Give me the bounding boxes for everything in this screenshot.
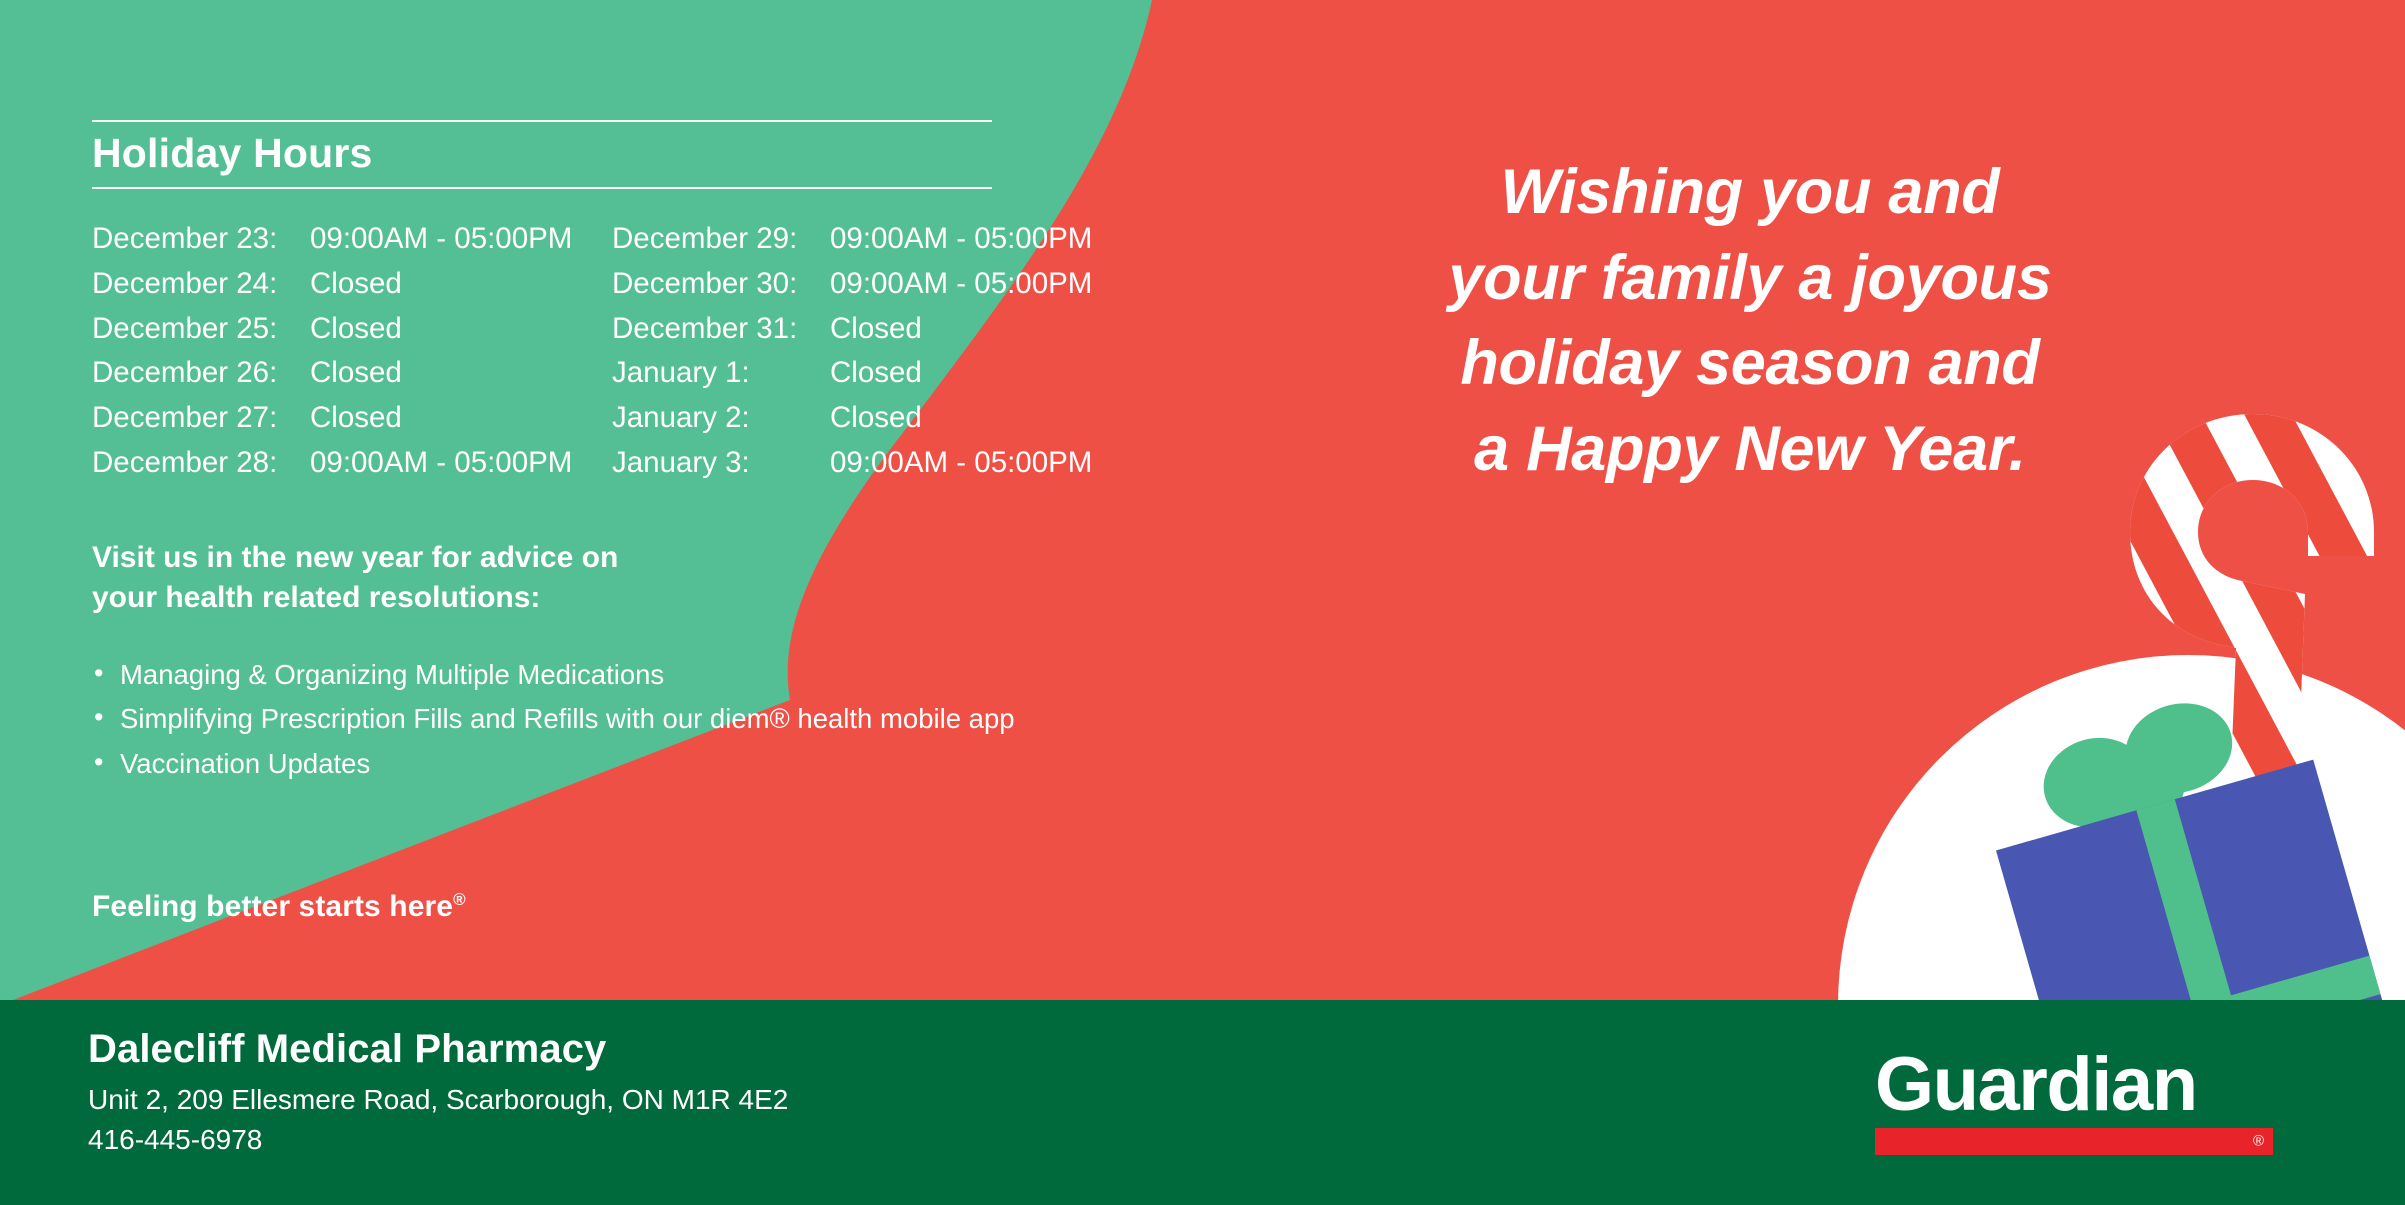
hours-time: Closed bbox=[830, 396, 922, 441]
pharmacy-address: Unit 2, 209 Ellesmere Road, Scarborough,… bbox=[88, 1080, 788, 1120]
hours-time: 09:00AM - 05:00PM bbox=[310, 441, 572, 486]
hours-date: December 29: bbox=[612, 217, 830, 262]
pharmacy-info: Dalecliff Medical Pharmacy Unit 2, 209 E… bbox=[88, 1028, 788, 1160]
hours-date: December 27: bbox=[92, 396, 310, 441]
hours-date: December 26: bbox=[92, 351, 310, 396]
pharmacy-phone: 416-445-6978 bbox=[88, 1120, 788, 1160]
hours-row: December 26: Closed bbox=[92, 351, 612, 396]
visit-heading: Visit us in the new year for advice on y… bbox=[92, 538, 812, 619]
holiday-hours-panel: Holiday Hours December 23: 09:00AM - 05:… bbox=[92, 120, 1152, 787]
hours-date: December 30: bbox=[612, 262, 830, 307]
hours-date: December 24: bbox=[92, 262, 310, 307]
hours-date: December 31: bbox=[612, 307, 830, 352]
guardian-logo: Guardian ® bbox=[1875, 1050, 2273, 1155]
hours-row: January 3: 09:00AM - 05:00PM bbox=[612, 441, 1132, 486]
tagline-text: Feeling better starts here bbox=[92, 890, 453, 923]
guardian-wordmark: Guardian bbox=[1875, 1050, 2273, 1120]
hours-row: December 27: Closed bbox=[92, 396, 612, 441]
hours-date: December 28: bbox=[92, 441, 310, 486]
divider-bottom bbox=[92, 187, 992, 189]
hours-time: 09:00AM - 05:00PM bbox=[310, 217, 572, 262]
registered-mark: ® bbox=[2253, 1134, 2264, 1149]
headline-line-2: your family a joyous bbox=[1355, 236, 2145, 322]
hours-time: 09:00AM - 05:00PM bbox=[830, 262, 1092, 307]
hours-row: December 24: Closed bbox=[92, 262, 612, 307]
hours-date: December 23: bbox=[92, 217, 310, 262]
hours-row: December 31: Closed bbox=[612, 307, 1132, 352]
hours-time: Closed bbox=[310, 307, 402, 352]
registered-mark: ® bbox=[453, 890, 466, 909]
brand-tagline: Feeling better starts here® bbox=[92, 890, 466, 924]
pharmacy-name: Dalecliff Medical Pharmacy bbox=[88, 1028, 788, 1070]
hours-grid: December 23: 09:00AM - 05:00PM December … bbox=[92, 217, 1152, 486]
list-item: Simplifying Prescription Fills and Refil… bbox=[92, 697, 1152, 742]
headline-line-4: a Happy New Year. bbox=[1355, 407, 2145, 493]
headline-line-1: Wishing you and bbox=[1355, 150, 2145, 236]
services-list: Managing & Organizing Multiple Medicatio… bbox=[92, 653, 1152, 787]
hours-row: January 1: Closed bbox=[612, 351, 1132, 396]
hours-time: Closed bbox=[830, 307, 922, 352]
visit-heading-line-2: your health related resolutions: bbox=[92, 578, 812, 619]
hours-column-right: December 29: 09:00AM - 05:00PM December … bbox=[612, 217, 1132, 486]
hours-row: December 30: 09:00AM - 05:00PM bbox=[612, 262, 1132, 307]
holiday-banner: Wishing you and your family a joyous hol… bbox=[0, 0, 2405, 1205]
list-item: Vaccination Updates bbox=[92, 742, 1152, 787]
hours-time: Closed bbox=[310, 396, 402, 441]
footer-bar: Dalecliff Medical Pharmacy Unit 2, 209 E… bbox=[0, 1000, 2405, 1205]
hours-row: December 29: 09:00AM - 05:00PM bbox=[612, 217, 1132, 262]
divider-top bbox=[92, 120, 992, 122]
hours-date: January 3: bbox=[612, 441, 830, 486]
hours-row: December 28: 09:00AM - 05:00PM bbox=[92, 441, 612, 486]
hours-time: Closed bbox=[310, 262, 402, 307]
headline-line-3: holiday season and bbox=[1355, 321, 2145, 407]
hours-time: Closed bbox=[830, 351, 922, 396]
hours-time: 09:00AM - 05:00PM bbox=[830, 441, 1092, 486]
headline: Wishing you and your family a joyous hol… bbox=[1355, 150, 2145, 493]
visit-heading-line-1: Visit us in the new year for advice on bbox=[92, 538, 812, 579]
hours-date: December 25: bbox=[92, 307, 310, 352]
hours-row: January 2: Closed bbox=[612, 396, 1132, 441]
hours-row: December 23: 09:00AM - 05:00PM bbox=[92, 217, 612, 262]
list-item: Managing & Organizing Multiple Medicatio… bbox=[92, 653, 1152, 698]
hours-date: January 2: bbox=[612, 396, 830, 441]
hours-time: 09:00AM - 05:00PM bbox=[830, 217, 1092, 262]
guardian-logo-bar: ® bbox=[1875, 1128, 2273, 1155]
hours-row: December 25: Closed bbox=[92, 307, 612, 352]
hours-date: January 1: bbox=[612, 351, 830, 396]
page-title: Holiday Hours bbox=[92, 122, 1152, 187]
hours-time: Closed bbox=[310, 351, 402, 396]
hours-column-left: December 23: 09:00AM - 05:00PM December … bbox=[92, 217, 612, 486]
